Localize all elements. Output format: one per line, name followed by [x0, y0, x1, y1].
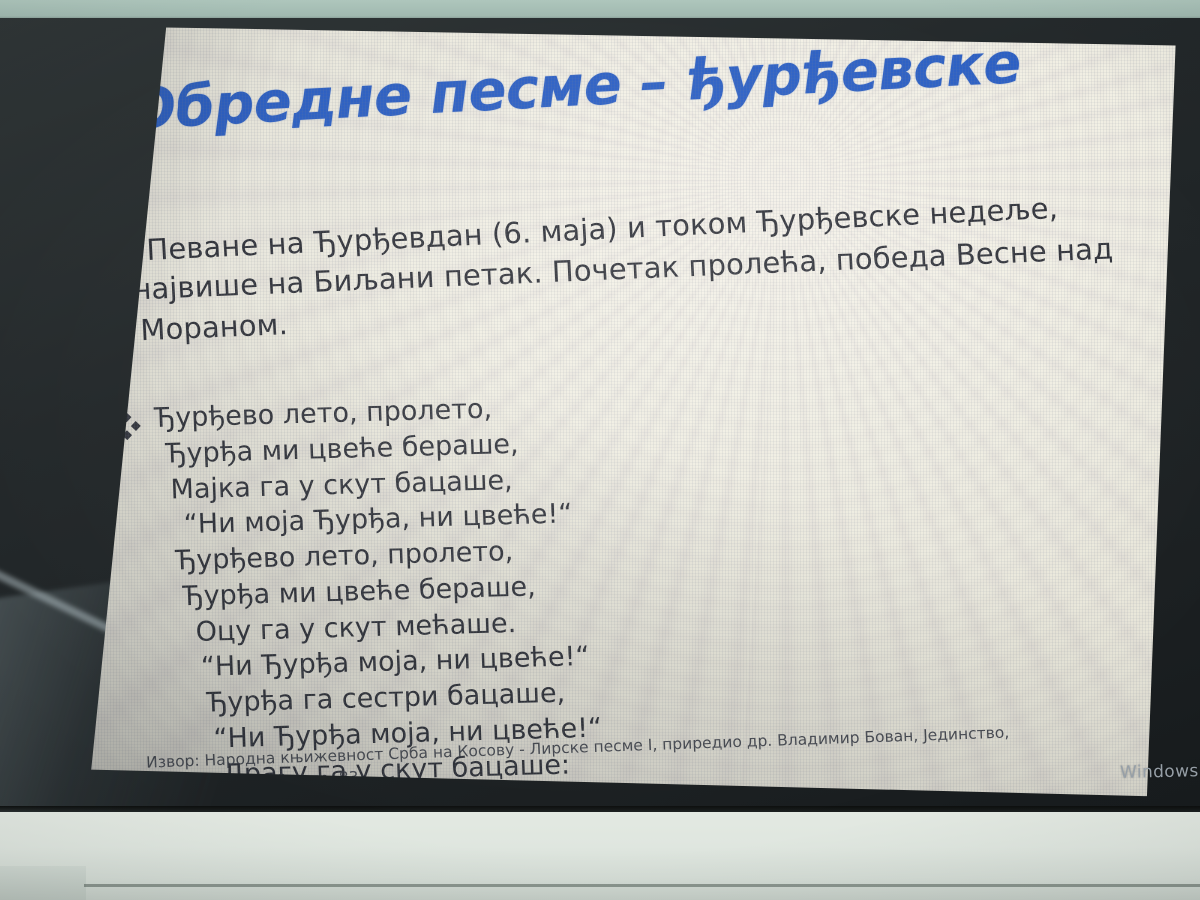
laptop-photo-scene: Обредне песме – ђурђевске Певане на Ђурђ…	[0, 0, 1200, 900]
bullet-item-intro: Певане на Ђурђевдан (6. маја) и током Ђу…	[81, 187, 1116, 354]
windows-activation-watermark: Windows.	[1119, 761, 1200, 783]
intro-paragraph: Певане на Ђурђевдан (6. маја) и током Ђу…	[121, 188, 1108, 352]
presentation-slide[interactable]: Обредне песме – ђурђевске Певане на Ђурђ…	[78, 22, 1180, 804]
slide-title: Обредне песме – ђурђевске	[127, 26, 1119, 143]
slide-content: Обредне песме – ђурђевске Певане на Ђурђ…	[78, 22, 1180, 804]
deck-seam	[84, 884, 1200, 887]
deck-left-notch	[0, 866, 86, 900]
